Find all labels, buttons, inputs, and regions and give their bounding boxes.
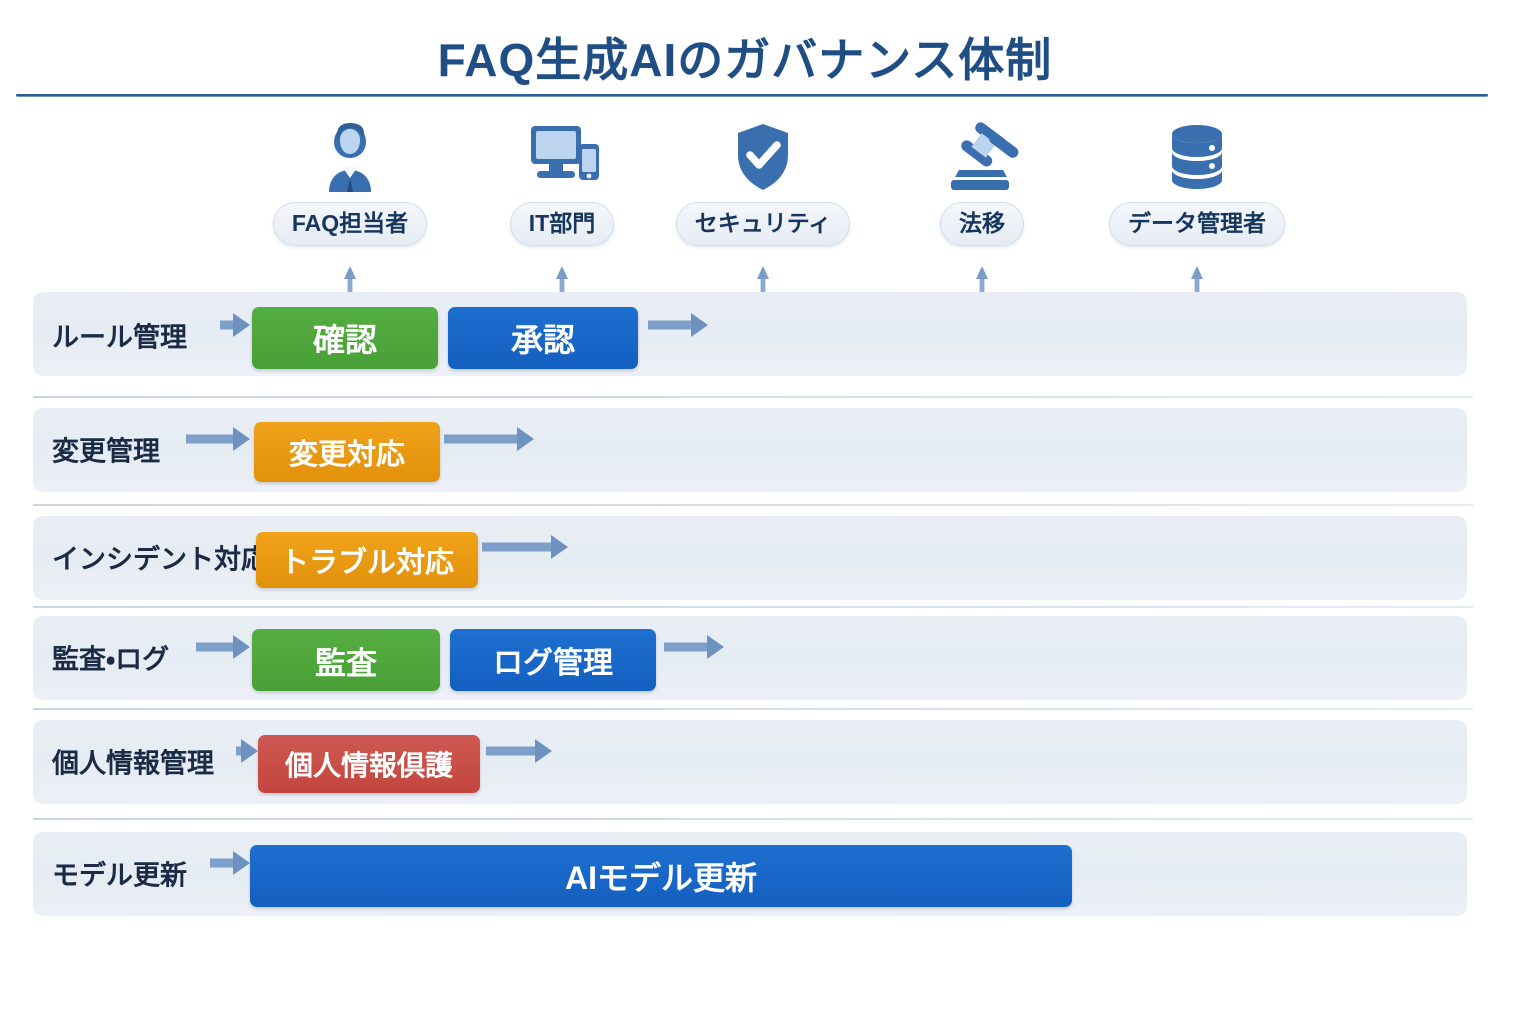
task-box[interactable]: ログ管理 xyxy=(450,629,656,691)
row-tail-arrow xyxy=(486,738,552,764)
row-lead-arrow xyxy=(236,738,258,764)
row-tail-arrow xyxy=(482,534,568,560)
row-label: インシデント対応 xyxy=(52,547,268,574)
task-box[interactable]: 承認 xyxy=(448,307,638,369)
row-lead-arrow xyxy=(196,634,250,660)
process-rows: ルール管理確認承認変更管理変更対応インシデント対応トラブル対応監査・ログ監査ログ… xyxy=(0,0,1536,1024)
row-label: ルール管理 xyxy=(52,325,187,352)
row-tail-arrow xyxy=(444,426,534,452)
row-separator xyxy=(33,708,1473,710)
row-separator xyxy=(33,504,1473,506)
task-box[interactable]: トラブル対応 xyxy=(256,532,478,588)
row-lead-arrow xyxy=(220,312,250,338)
row-separator xyxy=(33,606,1473,608)
row-label: 監査・ログ xyxy=(52,647,169,674)
row-tail-arrow xyxy=(648,312,708,338)
row-lead-arrow xyxy=(210,850,250,876)
row-tail-arrow xyxy=(664,634,724,660)
row-label: 変更管理 xyxy=(52,439,160,466)
task-box[interactable]: 確認 xyxy=(252,307,438,369)
row-separator xyxy=(33,818,1473,820)
row-lead-arrow xyxy=(186,426,250,452)
row-separator xyxy=(33,396,1473,398)
task-box[interactable]: 変更対応 xyxy=(254,422,440,482)
task-box[interactable]: 個人情報倶護 xyxy=(258,735,480,793)
row-label: モデル更新 xyxy=(52,863,187,890)
task-box[interactable]: AIモデル更新 xyxy=(250,845,1072,907)
row-label: 個人情報管理 xyxy=(52,751,214,778)
task-box[interactable]: 監査 xyxy=(252,629,440,691)
